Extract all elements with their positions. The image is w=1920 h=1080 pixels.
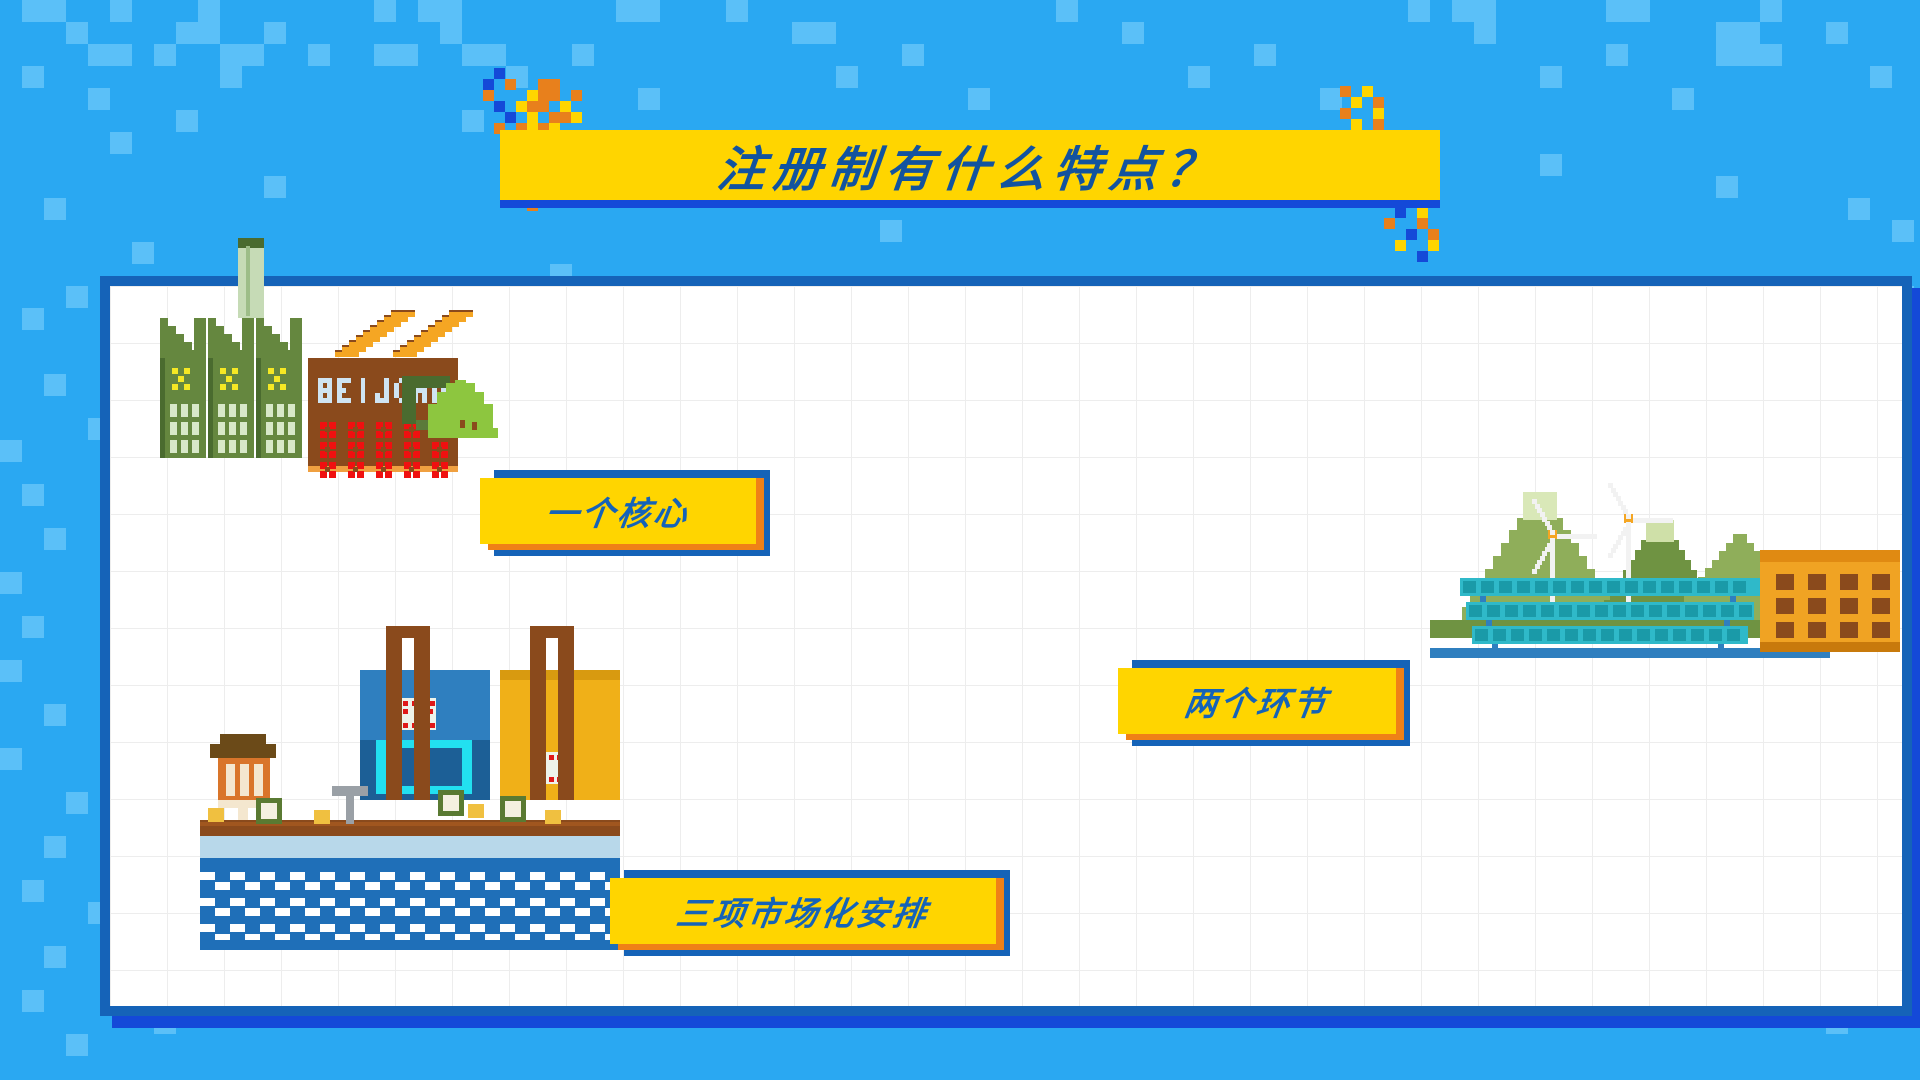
title-area: 注册制有什么特点？ xyxy=(0,52,1920,212)
badge-two-stages-label: 两个环节 xyxy=(1182,677,1333,725)
water-mining-illustration xyxy=(200,640,620,910)
mountain-solar-illustration xyxy=(1430,470,1900,720)
badge-three-arrangements: 三项市场化安排 xyxy=(610,870,1010,956)
page-title: 注册制有什么特点？ xyxy=(714,130,1225,200)
badge-face: 两个环节 xyxy=(1118,668,1396,734)
badge-three-arrangements-label: 三项市场化安排 xyxy=(674,887,933,935)
title-banner: 注册制有什么特点？ xyxy=(500,130,1440,200)
badge-two-stages: 两个环节 xyxy=(1118,660,1410,746)
badge-one-core-label: 一个核心 xyxy=(543,487,694,535)
badge-face: 一个核心 xyxy=(480,478,756,544)
badge-one-core: 一个核心 xyxy=(480,470,770,556)
badge-face: 三项市场化安排 xyxy=(610,878,996,944)
